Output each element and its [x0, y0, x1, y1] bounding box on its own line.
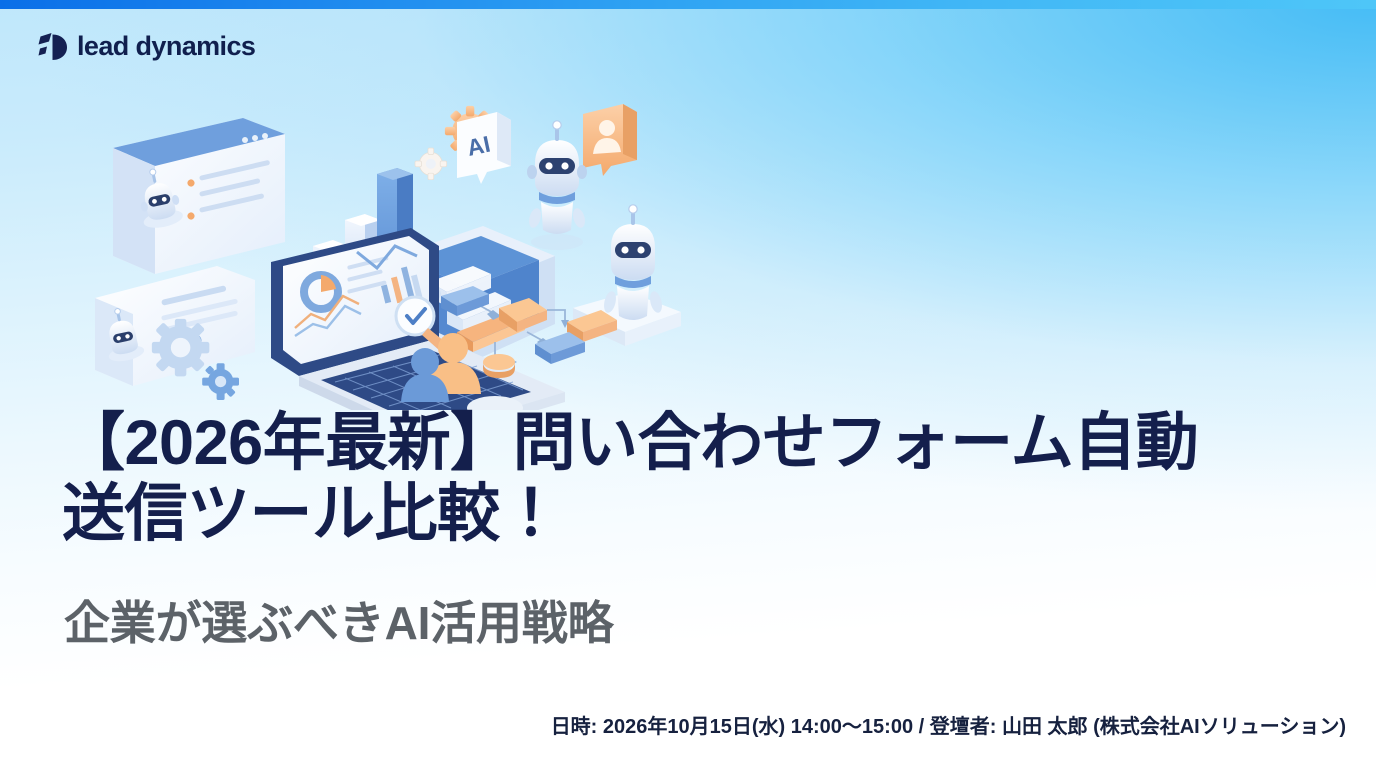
lead-dynamics-mark-icon [38, 30, 68, 62]
title-line-2: 送信ツール比較！ [62, 479, 1342, 550]
event-meta: 日時: 2026年10月15日(水) 14:00〜15:00 / 登壇者: 山田… [551, 710, 1346, 739]
gear-blue-large [152, 319, 210, 377]
gear-orange-small [415, 148, 447, 180]
brand-name: lead dynamics [77, 33, 255, 60]
page-subtitle: 企業が選ぶべきAI活用戦略 [64, 596, 613, 651]
top-accent-bar [0, 0, 1376, 9]
page-title: 【2026年最新】問い合わせフォーム自動 送信ツール比較！ [62, 408, 1342, 549]
user-profile-card [583, 104, 637, 176]
slide-root: lead dynamics [0, 0, 1376, 768]
hero-illustration: AI [95, 70, 695, 410]
title-line-1: 【2026年最新】問い合わせフォーム自動 [62, 408, 1342, 479]
brand-logo[interactable]: lead dynamics [38, 30, 255, 62]
gear-blue-small [202, 363, 239, 400]
robot-floating [527, 121, 587, 250]
ai-speech-bubble: AI [457, 112, 511, 184]
chat-window-robot-card [113, 118, 285, 274]
flow-node-terminator [483, 354, 515, 378]
